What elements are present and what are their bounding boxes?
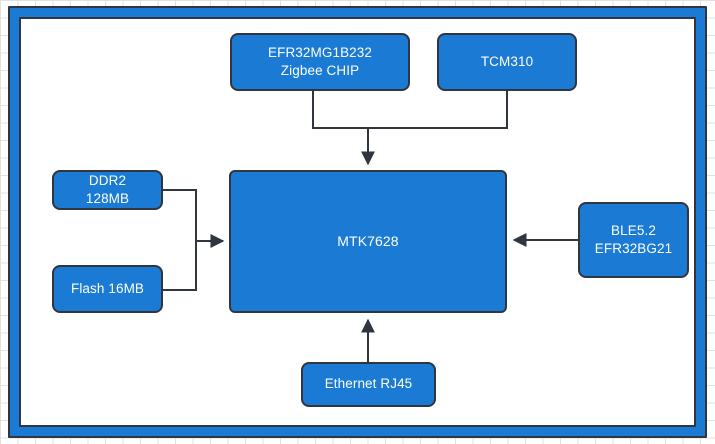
block-diagram-canvas: EFR32MG1B232 Zigbee CHIP TCM310 DDR2 128… [0, 0, 715, 444]
block-ble52-efr32bg21[interactable]: BLE5.2 EFR32BG21 [578, 202, 689, 278]
block-ddr2-128mb[interactable]: DDR2 128MB [52, 170, 163, 210]
block-flash-16mb[interactable]: Flash 16MB [52, 265, 163, 313]
block-efr32mg1b232-zigbee-chip[interactable]: EFR32MG1B232 Zigbee CHIP [230, 33, 410, 91]
block-ethernet-rj45[interactable]: Ethernet RJ45 [301, 362, 436, 407]
block-tcm310[interactable]: TCM310 [437, 33, 577, 91]
block-mtk7628-soc[interactable]: MTK7628 [229, 170, 507, 313]
